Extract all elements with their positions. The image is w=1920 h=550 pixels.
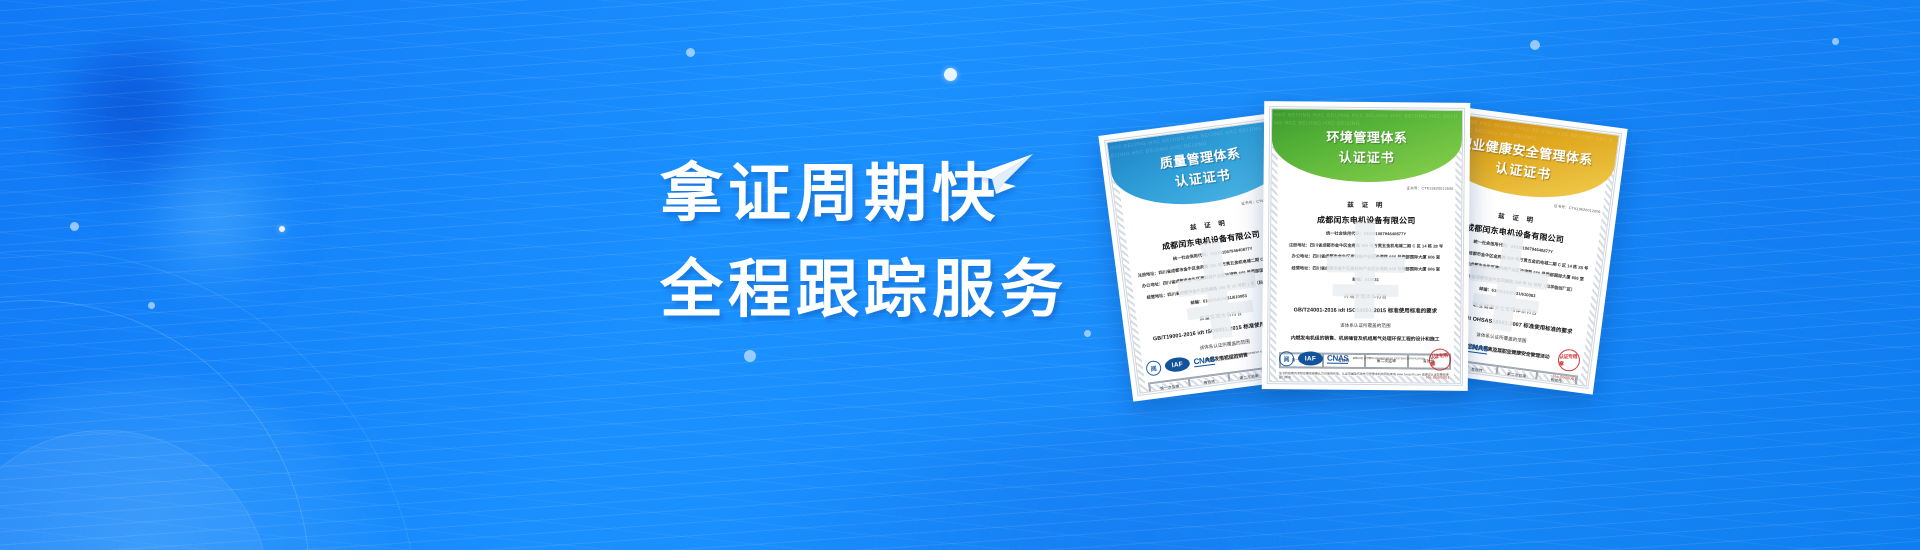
sparkle-dot xyxy=(1530,40,1540,50)
headline-line-1: 拿证周期快 xyxy=(660,146,1220,242)
headline-block: 拿证周期快 全程跟踪服务 xyxy=(660,146,1220,338)
cnas-logo-icon: CNAS xyxy=(1193,355,1216,368)
audit-cell: 有效性 xyxy=(1189,372,1230,391)
audit-cell: 第二次监审 xyxy=(1496,365,1537,384)
paper-plane-icon xyxy=(972,152,1034,196)
office-address: 办公地址：四川省成都市金牛区高科技产业区沙湾路 666 号西部国际大厦 606 … xyxy=(1280,253,1452,261)
certificate-group: HXC BEIJING HXC BEIJING HXC BEIJING HXC … xyxy=(1115,60,1920,490)
scope-text: 内燃发电机组的销售、机房噪音及机组尾气处理环保工程的设计和施工 xyxy=(1279,335,1451,344)
accreditation-text: 合格认证 认可标识 MANAGEMENT SYSTEM CERTIFICATIO… xyxy=(1352,357,1425,361)
sparkle-dot xyxy=(744,350,756,362)
system-conformity-label: 环境管理体系符合 xyxy=(1280,292,1452,301)
hxc-round-seal-icon: 阅 xyxy=(1145,359,1162,376)
sparkle-dot xyxy=(686,48,695,57)
certificate-title-line2: 认证证书 xyxy=(1339,146,1395,165)
cnas-logo-icon: CNAS xyxy=(1466,342,1489,355)
certificate-title-line1: 环境管理体系 xyxy=(1326,126,1407,146)
scope-label: 该体系认证所覆盖的范围 xyxy=(1279,322,1451,330)
iaf-logo-icon: IAF xyxy=(1298,351,1323,365)
audit-cell: 第一次监审 xyxy=(1149,378,1190,396)
promo-banner: 拿证周期快 全程跟踪服务 HXC BEIJING HXC BEIJING HXC… xyxy=(0,0,1920,550)
certificate-serial: No.0000001 xyxy=(1426,375,1450,380)
seal-row: 阅 IAF CNAS 合格认证 认可标识 MANAGEMENT SYSTEM C… xyxy=(1279,347,1451,371)
certify-label: 兹 证 明 xyxy=(1280,198,1452,210)
postcode: 邮编：610031 xyxy=(1280,276,1452,284)
sparkle-dot xyxy=(148,302,155,309)
certificate-environment[interactable]: HXC BEIJING HXC BEIJING HXC BEIJING HXC … xyxy=(1262,101,1471,391)
sparkle-dot xyxy=(1832,38,1839,45)
red-official-stamp-icon: 认证专用章 xyxy=(1558,349,1580,371)
sparkle-dot xyxy=(944,68,957,81)
registered-address: 注册地址：四川省成都市金牛区金府路 555 号万贯五金机电城二期 C 区 14 … xyxy=(1280,242,1452,250)
standard-reference: GB/T24001-2016 idt ISO14001:2015 标准使用标准的… xyxy=(1279,305,1451,315)
iaf-logo-icon: IAF xyxy=(1164,356,1191,373)
credit-code: 统一社会信用代码：91510106794640877Y xyxy=(1280,230,1452,238)
red-official-stamp-icon: 认证专用章 xyxy=(1428,347,1453,372)
sparkle-dot xyxy=(70,222,79,231)
operating-address: 经营地址：四川省成都市金牛区高科技产业区沙湾路 666 号西部国际大厦 606 … xyxy=(1280,265,1452,273)
cnas-logo-icon: CNAS xyxy=(1327,354,1349,364)
accreditation-text: 合格认证 认可标识 MANAGEMENT SYSTEM CERTIFICATIO… xyxy=(1492,347,1555,362)
certificate-header-environment: HXC BEIJING HXC BEIJING HXC BEIJING HXC … xyxy=(1272,109,1463,183)
hxc-round-seal-icon: 阅 xyxy=(1279,351,1294,366)
company-name: 成都闰东电机设备有限公司 xyxy=(1280,214,1452,227)
headline-line-2: 全程跟踪服务 xyxy=(660,242,1220,338)
sparkle-dot xyxy=(279,226,285,232)
